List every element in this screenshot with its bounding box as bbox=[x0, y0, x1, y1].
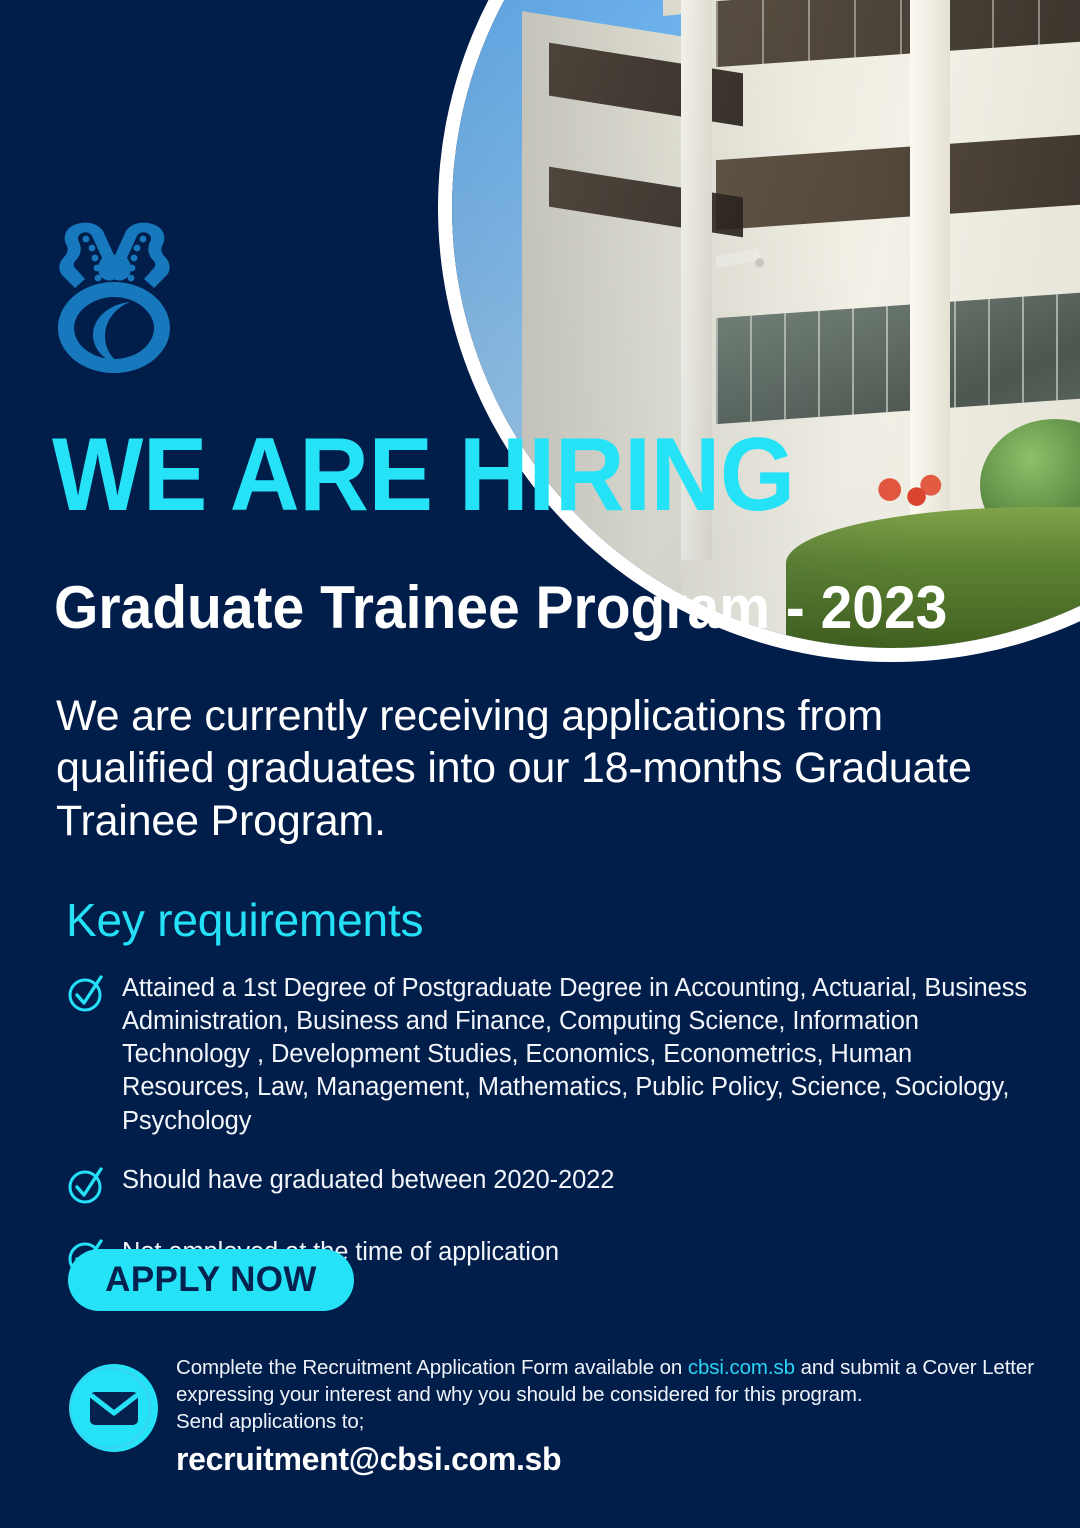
list-item-label: Attained a 1st Degree of Postgraduate De… bbox=[122, 972, 1041, 1138]
footer-contact: Complete the Recruitment Application For… bbox=[66, 1352, 1080, 1478]
photo-shading bbox=[452, 0, 1080, 648]
key-requirements-heading: Key requirements bbox=[66, 893, 423, 947]
list-item: Attained a 1st Degree of Postgraduate De… bbox=[66, 972, 1041, 1138]
recruitment-poster: WE ARE HIRING Graduate Trainee Program -… bbox=[0, 0, 1080, 1528]
building-photo bbox=[452, 0, 1080, 648]
cbsi-shell-logo bbox=[52, 210, 177, 375]
page-title: WE ARE HIRING bbox=[52, 423, 795, 527]
website-link[interactable]: cbsi.com.sb bbox=[688, 1356, 795, 1379]
send-applications-label: Send applications to; bbox=[176, 1408, 1080, 1435]
apply-now-button[interactable]: APPLY NOW bbox=[68, 1249, 354, 1311]
list-item-label: Should have graduated between 2020-2022 bbox=[122, 1164, 614, 1197]
check-circle-icon bbox=[66, 1166, 106, 1206]
footer-text-before: Complete the Recruitment Application For… bbox=[176, 1356, 688, 1379]
recruitment-email[interactable]: recruitment@cbsi.com.sb bbox=[176, 1441, 1080, 1478]
check-circle-icon bbox=[66, 974, 106, 1014]
list-item: Should have graduated between 2020-2022 bbox=[66, 1164, 1041, 1206]
email-icon bbox=[66, 1360, 162, 1456]
program-subtitle: Graduate Trainee Program - 2023 bbox=[54, 578, 947, 638]
footer-instructions: Complete the Recruitment Application For… bbox=[176, 1354, 1080, 1408]
intro-paragraph: We are currently receiving applications … bbox=[56, 690, 991, 847]
